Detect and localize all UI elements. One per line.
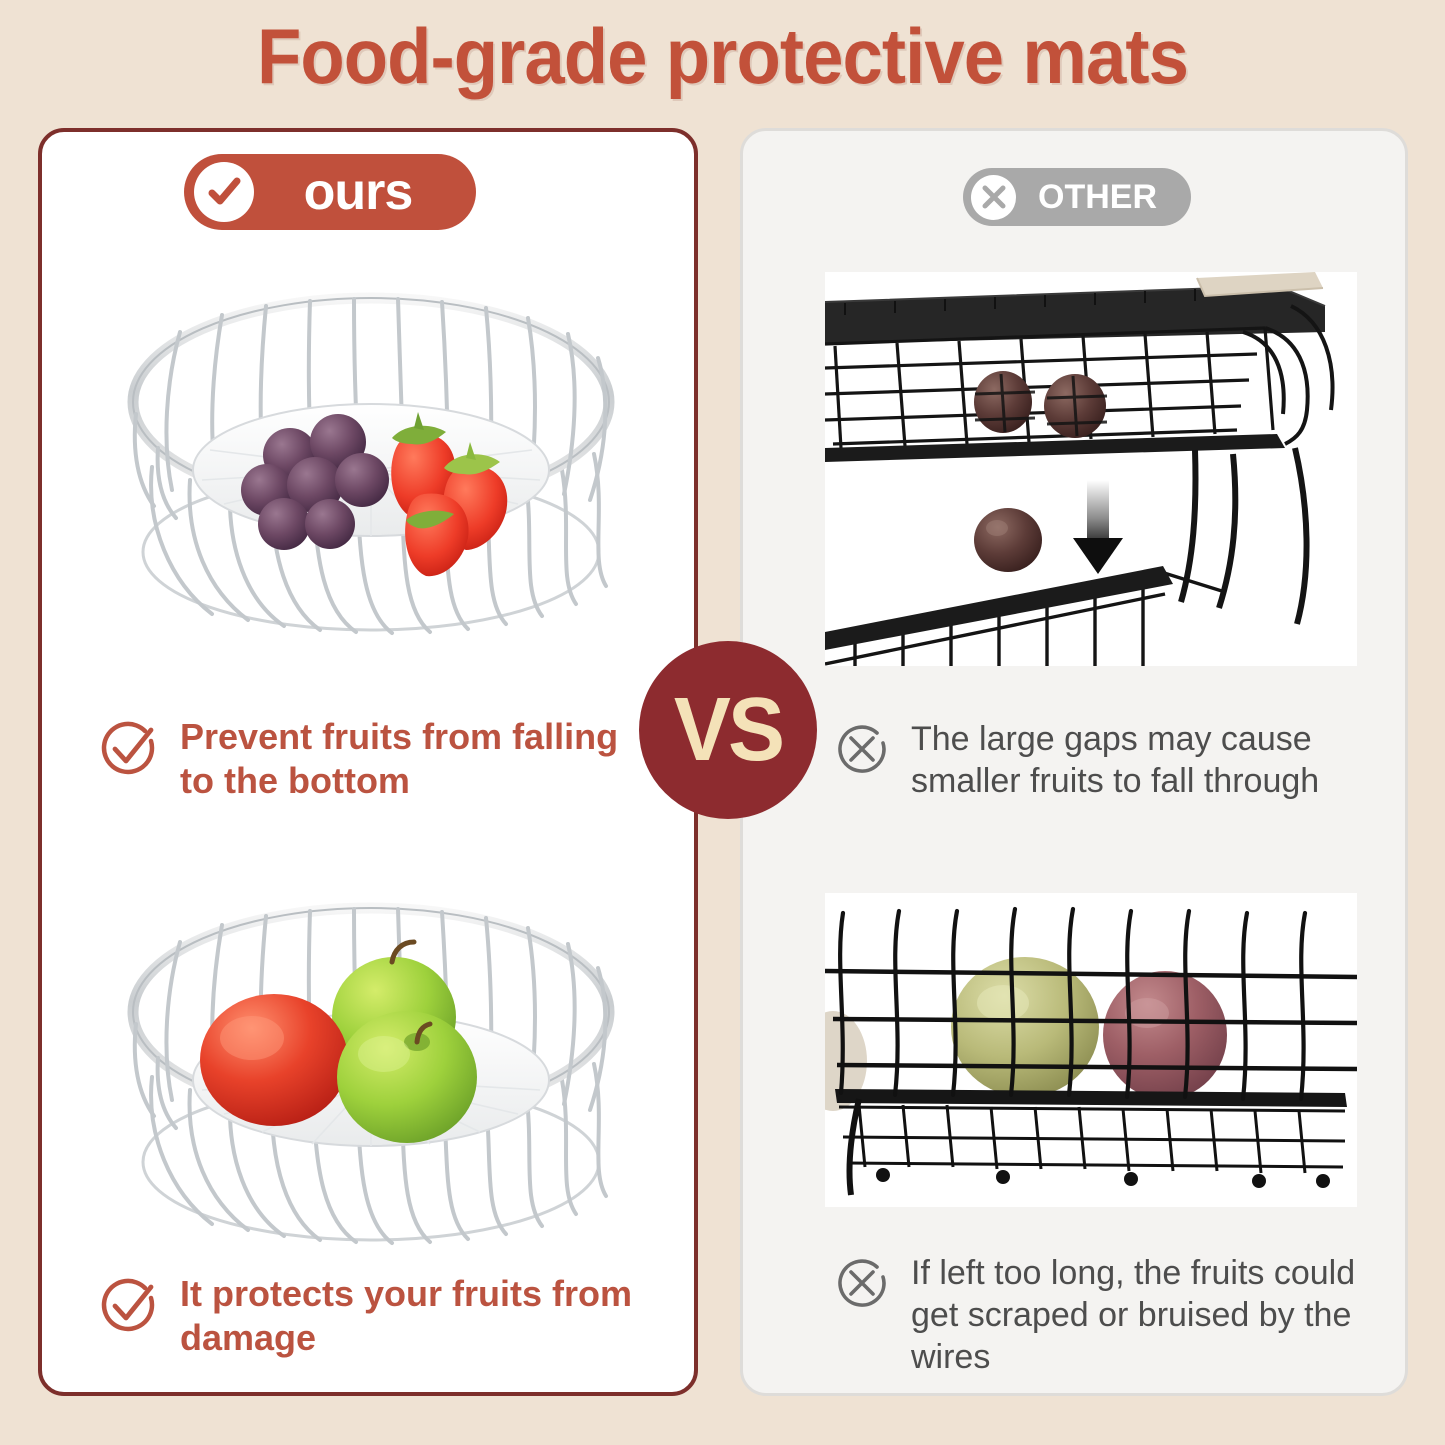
page-title: Food-grade protective mats	[51, 8, 1395, 104]
vs-label: VS	[674, 684, 782, 776]
ours-badge-label: ours	[254, 164, 476, 220]
x-circle-icon	[833, 1254, 891, 1312]
ours-image-grapes-strawberries	[62, 252, 680, 672]
x-circle-icon	[833, 720, 891, 778]
other-image-fruit-pressed	[825, 893, 1357, 1207]
ours-feature-1-text: Prevent fruits from falling to the botto…	[180, 715, 658, 803]
ours-badge: ours	[184, 154, 476, 230]
other-feature-1-text: The large gaps may cause smaller fruits …	[911, 718, 1373, 802]
other-image-grape-falling	[825, 272, 1357, 666]
other-feature-2-text: If left too long, the fruits could get s…	[911, 1252, 1373, 1378]
other-badge: OTHER	[963, 168, 1191, 226]
ours-feature-1: Prevent fruits from falling to the botto…	[98, 715, 658, 803]
x-circle-icon	[971, 175, 1016, 220]
infographic-root: Food-grade protective mats ours	[0, 0, 1445, 1445]
other-feature-2: If left too long, the fruits could get s…	[833, 1252, 1373, 1378]
check-circle-icon	[194, 162, 254, 222]
ours-feature-2: It protects your fruits from damage	[98, 1272, 658, 1360]
other-feature-1: The large gaps may cause smaller fruits …	[833, 718, 1373, 802]
check-circle-icon	[98, 717, 160, 779]
vs-badge: VS	[639, 641, 817, 819]
ours-feature-2-text: It protects your fruits from damage	[180, 1272, 658, 1360]
check-circle-icon	[98, 1274, 160, 1336]
ours-image-apples	[62, 862, 680, 1282]
other-badge-label: OTHER	[1016, 178, 1191, 216]
